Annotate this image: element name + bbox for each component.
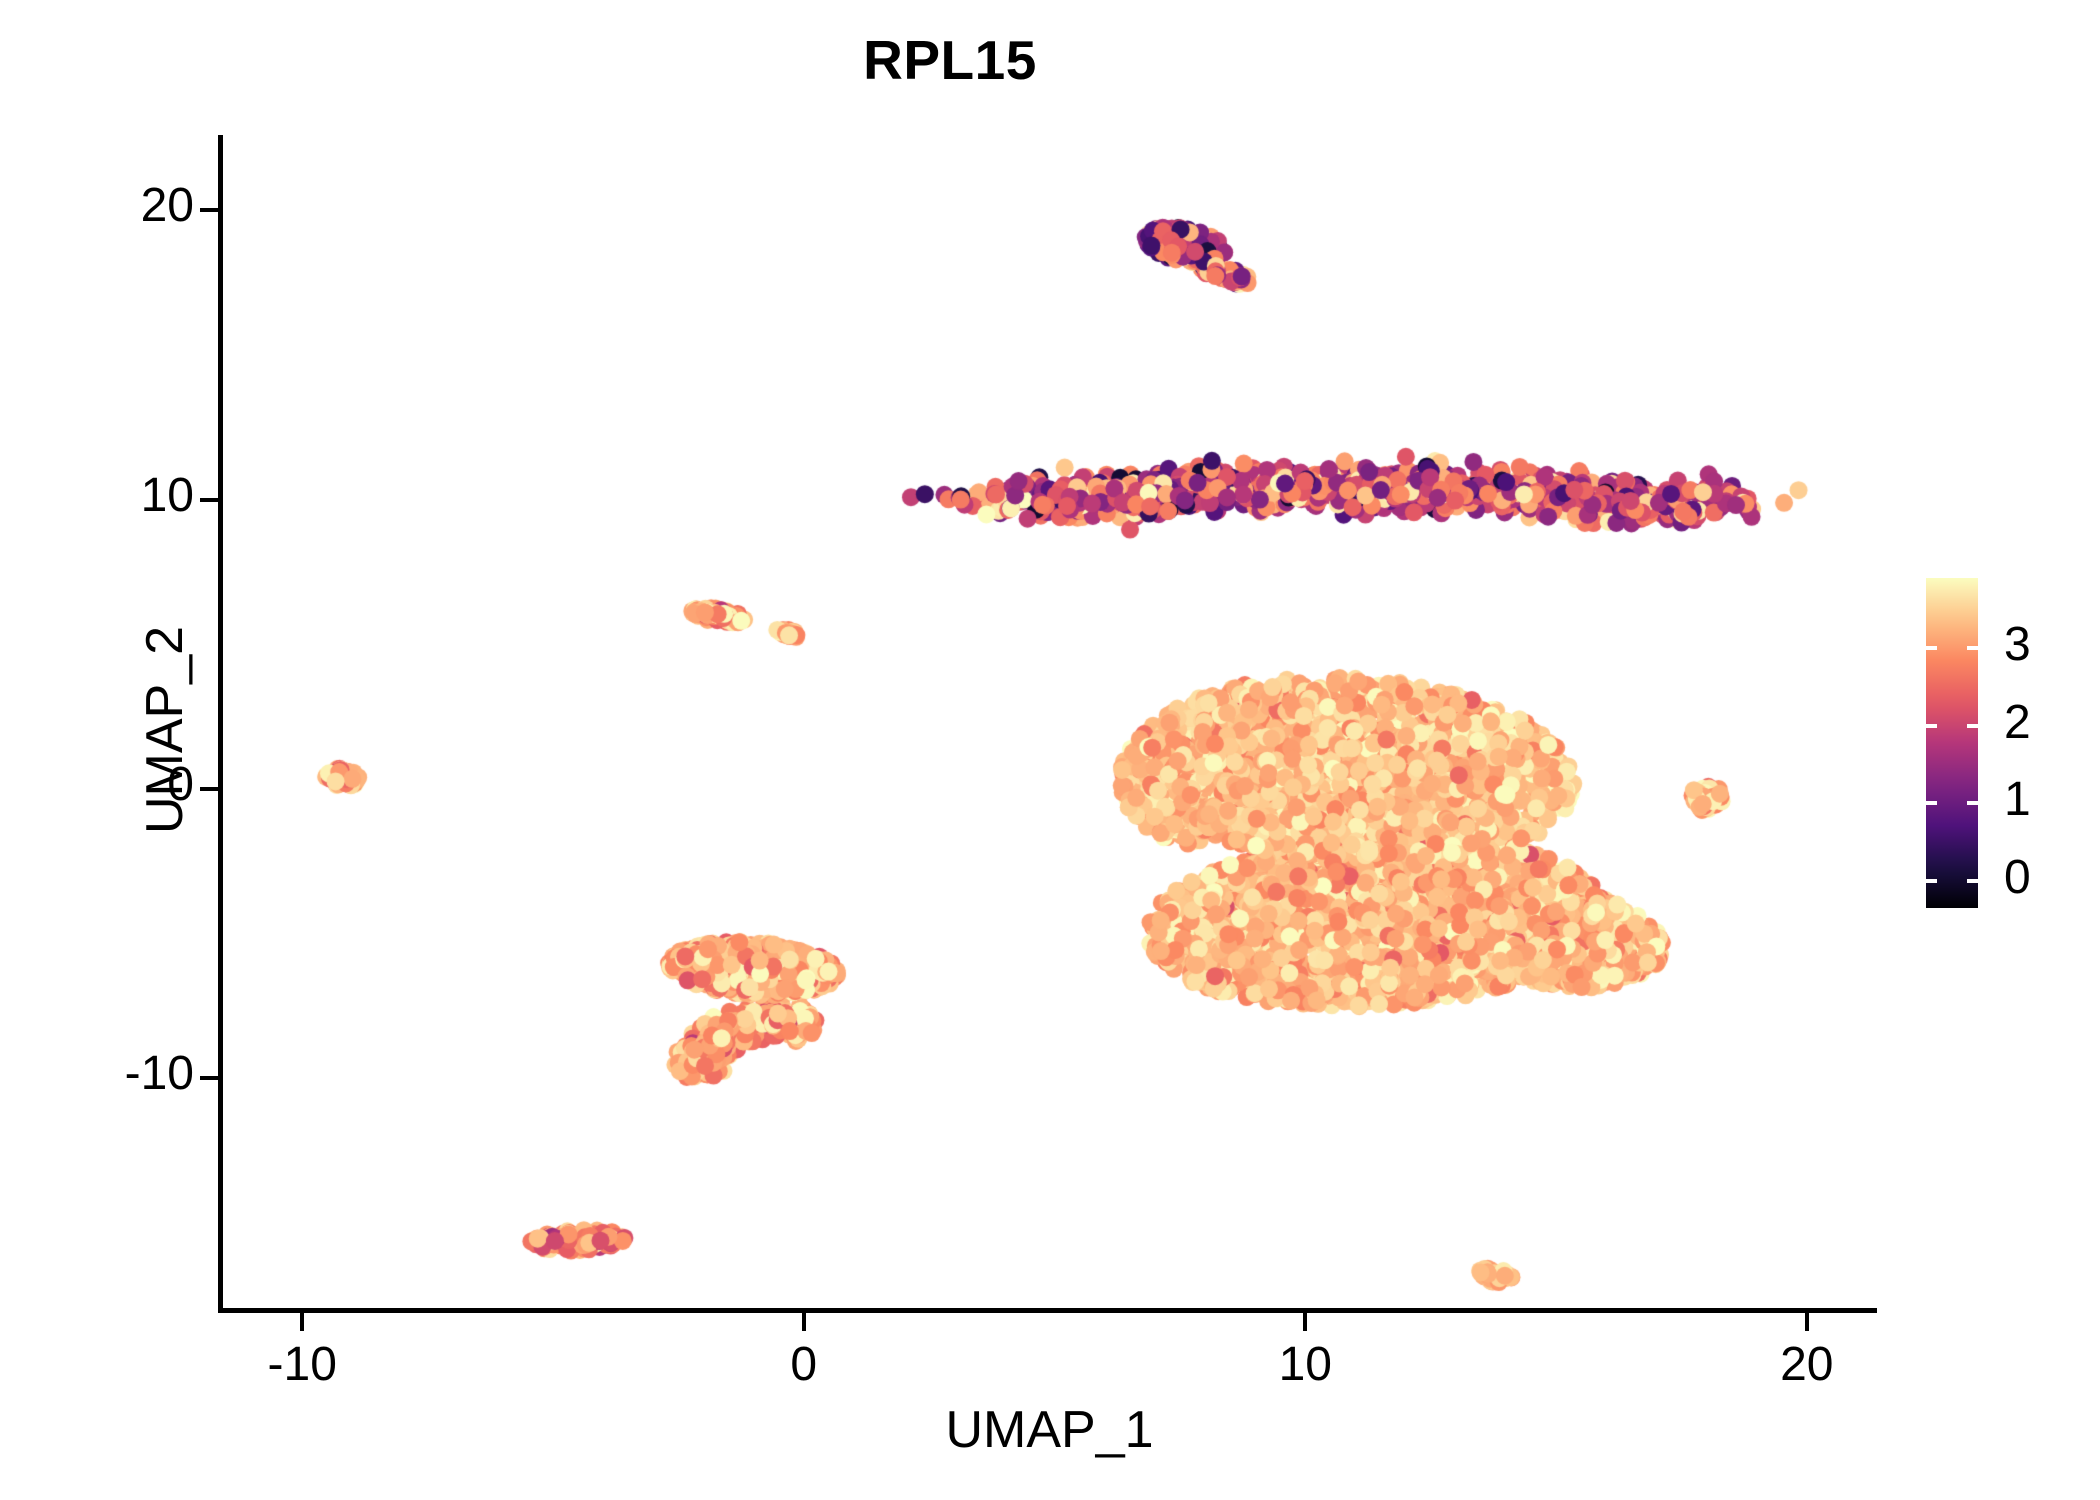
colorbar-label-1: 1	[2004, 772, 2084, 827]
scatter-points-canvas	[222, 135, 1877, 1310]
colorbar-label-2: 2	[2004, 695, 2084, 750]
colorbar-tick-2-right	[1967, 724, 1978, 728]
colorbar-legend	[1926, 578, 1978, 908]
colorbar-tick-1-right	[1967, 801, 1978, 805]
y-tick-10	[200, 498, 218, 502]
y-tick-20	[200, 208, 218, 212]
chart-root: RPL15 -1001020 -1001020 UMAP_1 UMAP_2 01…	[0, 0, 2100, 1500]
x-tick-10	[1303, 1313, 1307, 1331]
colorbar-label-0: 0	[2004, 850, 2084, 905]
colorbar-tick-2-left	[1926, 724, 1937, 728]
y-tick-0	[200, 787, 218, 791]
scatter-plot-panel	[222, 135, 1877, 1310]
colorbar-gradient	[1926, 578, 1978, 908]
y-tick--10	[200, 1076, 218, 1080]
colorbar-tick-3-left	[1926, 646, 1937, 650]
x-tick-20	[1805, 1313, 1809, 1331]
x-tick-0	[802, 1313, 806, 1331]
y-axis-title: UMAP_2	[135, 140, 195, 1320]
x-tick-label-0: 0	[704, 1337, 904, 1392]
x-tick--10	[300, 1313, 304, 1331]
y-axis-line	[218, 135, 223, 1313]
x-axis-title: UMAP_1	[222, 1400, 1877, 1460]
colorbar-tick-3-right	[1967, 646, 1978, 650]
x-tick-label-20: 20	[1707, 1337, 1907, 1392]
colorbar-tick-0-right	[1967, 879, 1978, 883]
page-title: RPL15	[0, 28, 1900, 92]
colorbar-tick-0-left	[1926, 879, 1937, 883]
colorbar-label-3: 3	[2004, 617, 2084, 672]
colorbar-tick-1-left	[1926, 801, 1937, 805]
x-tick-label-10: 10	[1205, 1337, 1405, 1392]
x-tick-label--10: -10	[202, 1337, 402, 1392]
x-axis-line	[222, 1308, 1877, 1313]
